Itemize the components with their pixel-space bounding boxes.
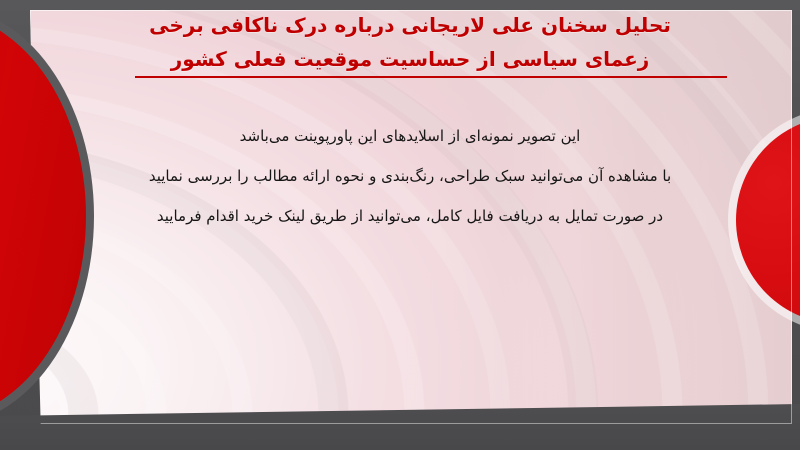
slide-title-line-1: تحلیل سخنان علی لاریجانی درباره درک ناکا… — [80, 8, 740, 42]
slide-title-line-2: زعمای سیاسی از حساسیت موقعیت فعلی کشور — [80, 42, 740, 76]
slide-body-line-2: با مشاهده آن می‌توانید سبک طراحی، رنگ‌بن… — [90, 156, 730, 196]
slide-body-line-1: این تصویر نمونه‌ای از اسلایدهای این پاور… — [90, 116, 730, 156]
slide-title: تحلیل سخنان علی لاریجانی درباره درک ناکا… — [80, 8, 740, 76]
title-underline — [135, 76, 727, 78]
slide-body-line-3: در صورت تمایل به دریافت فایل کامل، می‌تو… — [90, 196, 730, 236]
slide-body-text: این تصویر نمونه‌ای از اسلایدهای این پاور… — [90, 116, 730, 236]
presentation-slide: تحلیل سخنان علی لاریجانی درباره درک ناکا… — [0, 0, 800, 450]
